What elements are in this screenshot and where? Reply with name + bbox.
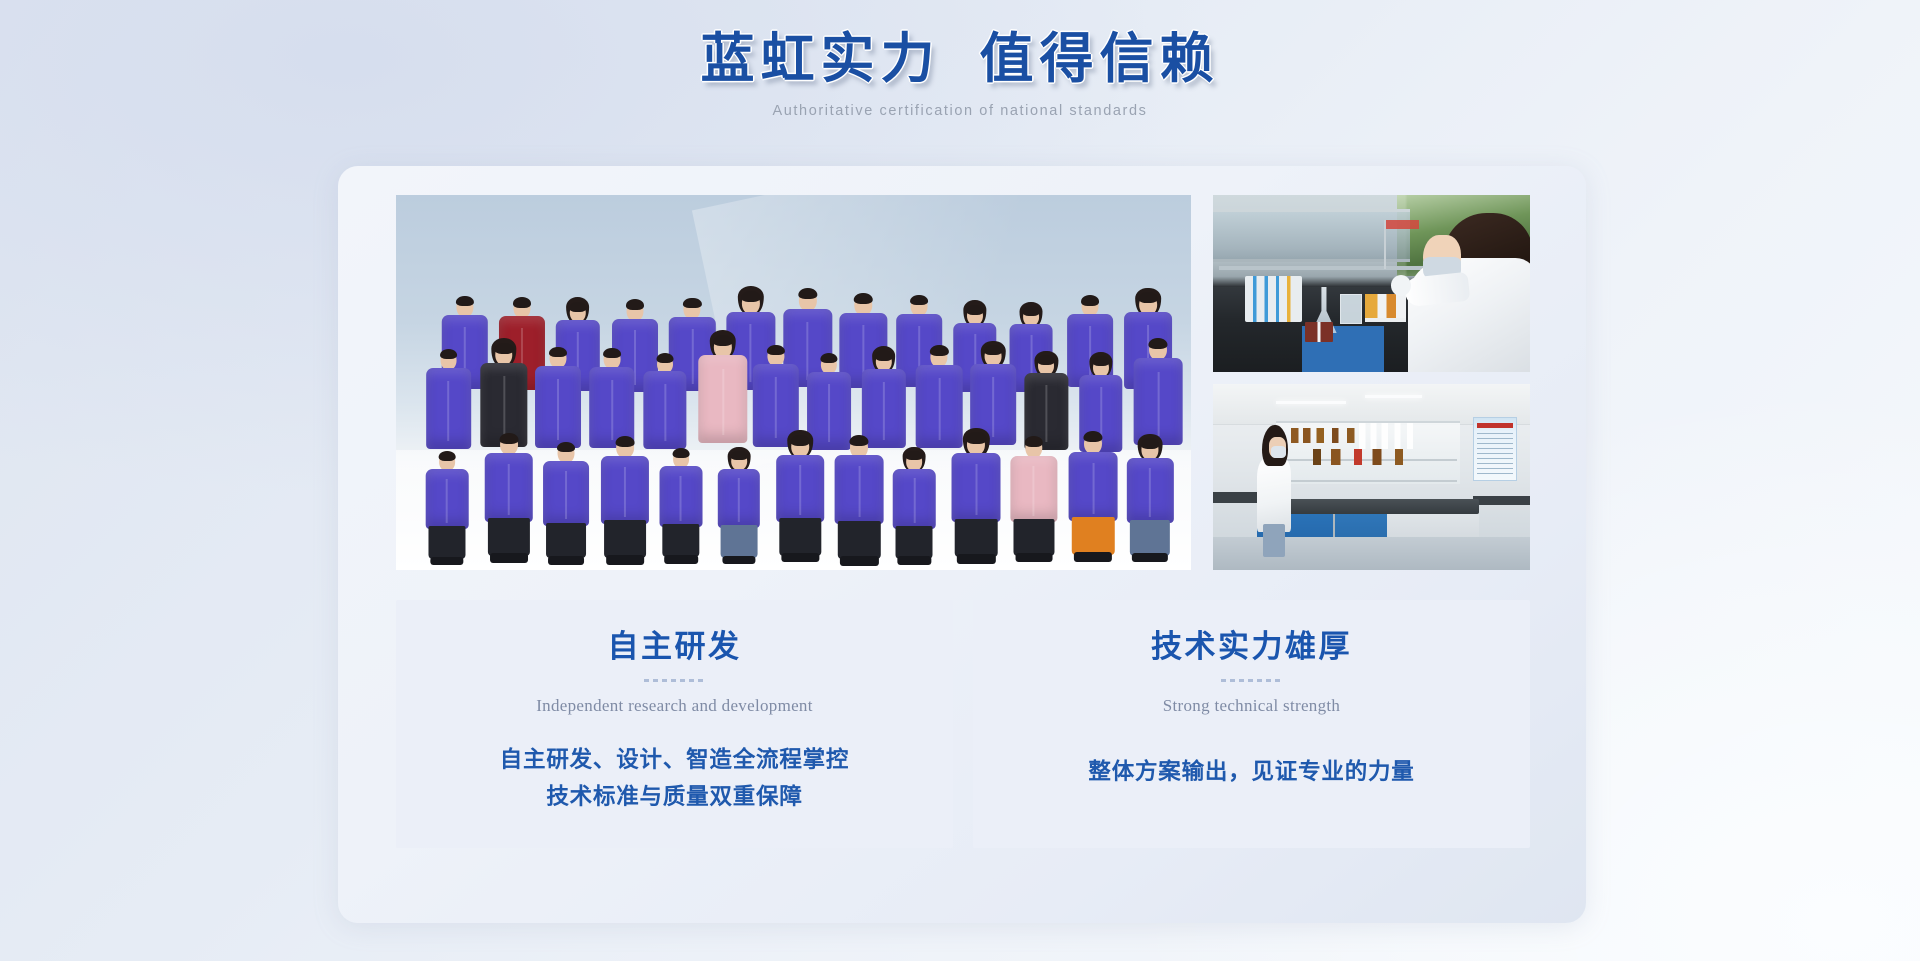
team-member-hair xyxy=(1081,295,1099,305)
team-member-uniform xyxy=(952,453,1001,522)
lab-right-bench xyxy=(1473,496,1530,505)
team-member-legs xyxy=(1013,519,1054,556)
team-member-shoes xyxy=(782,553,819,562)
technician-glove xyxy=(1391,275,1411,296)
team-member-shoes xyxy=(1015,553,1052,562)
team-member-hair xyxy=(906,451,923,461)
team-member-hair xyxy=(910,295,928,305)
team-member xyxy=(482,426,535,563)
lab-glassware-row xyxy=(1359,423,1422,449)
team-member-hair xyxy=(875,350,892,360)
team-member-hair xyxy=(767,345,785,356)
lab-top-reagent-bottles xyxy=(1305,322,1334,341)
team-member-shoes xyxy=(1132,553,1168,562)
team-member-shoes xyxy=(490,553,528,563)
team-member-hair xyxy=(1023,306,1040,316)
team-member-legs xyxy=(896,526,933,559)
team-member-hair xyxy=(657,353,674,363)
team-member-uniform xyxy=(543,461,589,526)
team-member-hair xyxy=(1025,436,1043,447)
team-member-hair xyxy=(1149,338,1168,349)
team-member xyxy=(950,425,1003,563)
team-member-hair xyxy=(713,335,732,346)
team-member-uniform xyxy=(698,355,747,443)
team-member-shoes xyxy=(430,557,463,565)
shelf-row xyxy=(1280,466,1457,482)
team-member xyxy=(1008,429,1059,562)
team-member-hair xyxy=(966,305,983,315)
team-member-uniform xyxy=(659,466,702,527)
team-member-legs xyxy=(1072,517,1114,555)
team-member-hair xyxy=(854,293,873,304)
team-member-hair xyxy=(683,298,701,309)
team-member-uniform xyxy=(1010,456,1057,523)
card-subtitle: Strong technical strength xyxy=(973,696,1530,716)
team-member-hair xyxy=(456,296,474,307)
card-title: 技术实力雄厚 xyxy=(973,628,1530,665)
team-member-hair xyxy=(791,435,810,446)
team-member xyxy=(833,428,886,566)
team-member-legs xyxy=(780,518,821,555)
team-member-legs xyxy=(721,525,758,558)
lab-top-technician xyxy=(1391,213,1530,372)
lab-top-pipette-rack xyxy=(1245,276,1302,322)
lab-technician-photo[interactable] xyxy=(1213,195,1530,372)
lab-safety-poster xyxy=(1473,417,1517,480)
team-member-hair xyxy=(741,291,760,302)
team-member-hair xyxy=(1038,355,1055,365)
team-member-hair xyxy=(616,436,635,447)
card-subtitle: Independent research and development xyxy=(396,696,953,716)
team-member-shoes xyxy=(548,556,584,565)
team-group-photo[interactable] xyxy=(396,195,1191,570)
team-member-uniform xyxy=(426,368,472,449)
team-member xyxy=(424,445,470,565)
team-member-legs xyxy=(662,524,699,558)
ceiling-lamp-icon xyxy=(1365,395,1422,398)
team-member-uniform xyxy=(484,453,533,522)
card-title: 自主研发 xyxy=(396,628,953,665)
team-member-uniform xyxy=(835,455,884,524)
ceiling-lamp-icon xyxy=(1276,401,1346,404)
team-member xyxy=(599,429,651,565)
team-member-hair xyxy=(440,349,458,359)
team-member-shoes xyxy=(722,556,755,564)
team-member-hair xyxy=(672,448,689,458)
team-member-hair xyxy=(513,297,531,308)
team-member-legs xyxy=(1130,520,1170,556)
team-member-shoes xyxy=(898,556,931,564)
technician-jeans xyxy=(1263,524,1284,557)
team-member xyxy=(1125,431,1175,562)
team-member-hair xyxy=(495,343,514,354)
team-member-hair xyxy=(557,442,575,453)
team-member-hair xyxy=(569,302,586,312)
team-member-shoes xyxy=(840,556,878,566)
team-member-legs xyxy=(546,523,586,559)
team-member-hair xyxy=(1084,431,1103,442)
team-member-hair xyxy=(850,435,869,446)
team-member-hair xyxy=(1141,438,1159,449)
team-member-legs xyxy=(838,521,880,559)
team-member-uniform xyxy=(893,469,936,529)
page-title: 蓝虹实力 值得信赖 xyxy=(0,26,1920,94)
team-member-shoes xyxy=(664,555,698,563)
team-member-legs xyxy=(955,519,998,557)
team-member-uniform xyxy=(1069,452,1118,521)
card-description: 自主研发、设计、智造全流程掌控 技术标准与质量双重保障 xyxy=(396,742,953,815)
team-member-uniform xyxy=(601,456,649,524)
team-member xyxy=(1067,424,1120,562)
lab-top-glass-shelf xyxy=(1213,209,1410,262)
content-panel: 自主研发 Independent research and developmen… xyxy=(338,166,1586,923)
team-member xyxy=(716,445,762,565)
team-member xyxy=(774,428,826,563)
team-member-hair xyxy=(549,347,567,358)
team-member-uniform xyxy=(718,469,760,529)
lab-room-photo[interactable] xyxy=(1213,384,1530,570)
team-member-shoes xyxy=(606,555,644,565)
photo-gallery xyxy=(396,195,1530,570)
card-description: 整体方案输出，见证专业的力量 xyxy=(973,754,1530,790)
team-member xyxy=(658,442,705,563)
team-member-shoes xyxy=(1074,552,1112,562)
team-member-hair xyxy=(820,353,837,363)
dashed-divider-icon xyxy=(1221,679,1283,682)
feature-card-independent-rd[interactable]: 自主研发 Independent research and developmen… xyxy=(396,600,953,848)
team-member xyxy=(541,435,591,565)
team-member-hair xyxy=(499,433,518,444)
team-member-hair xyxy=(967,432,986,443)
page-header: 蓝虹实力 值得信赖 Authoritative certification of… xyxy=(0,0,1920,119)
team-member-hair xyxy=(1138,292,1157,303)
team-member-legs xyxy=(604,520,646,558)
team-member-legs xyxy=(488,518,530,556)
technician-lab-coat xyxy=(1257,458,1292,532)
feature-cards: 自主研发 Independent research and developmen… xyxy=(396,600,1530,848)
team-member-hair xyxy=(984,345,1002,355)
page-subtitle: Authoritative certification of national … xyxy=(0,103,1920,119)
team-member-hair xyxy=(1092,356,1109,366)
team-member-uniform xyxy=(776,455,824,522)
team-member-hair xyxy=(930,345,948,356)
feature-card-technical-strength[interactable]: 技术实力雄厚 Strong technical strength 整体方案输出，… xyxy=(973,600,1530,848)
team-member-uniform xyxy=(1127,458,1173,523)
shelf-bottles-lower xyxy=(1313,449,1427,465)
team-member-hair xyxy=(439,451,456,461)
lab-top-beaker xyxy=(1340,294,1362,324)
dashed-divider-icon xyxy=(644,679,706,682)
team-member-legs xyxy=(428,526,465,559)
team-member xyxy=(891,445,937,565)
team-member-shoes xyxy=(957,554,995,564)
team-member-hair xyxy=(798,288,817,299)
team-member-hair xyxy=(603,348,621,358)
team-member-uniform xyxy=(426,469,469,529)
team-member-hair xyxy=(626,299,644,310)
team-member-hair xyxy=(731,451,748,461)
technician-face-mask xyxy=(1271,446,1286,458)
lab-bottom-technician xyxy=(1254,425,1295,563)
